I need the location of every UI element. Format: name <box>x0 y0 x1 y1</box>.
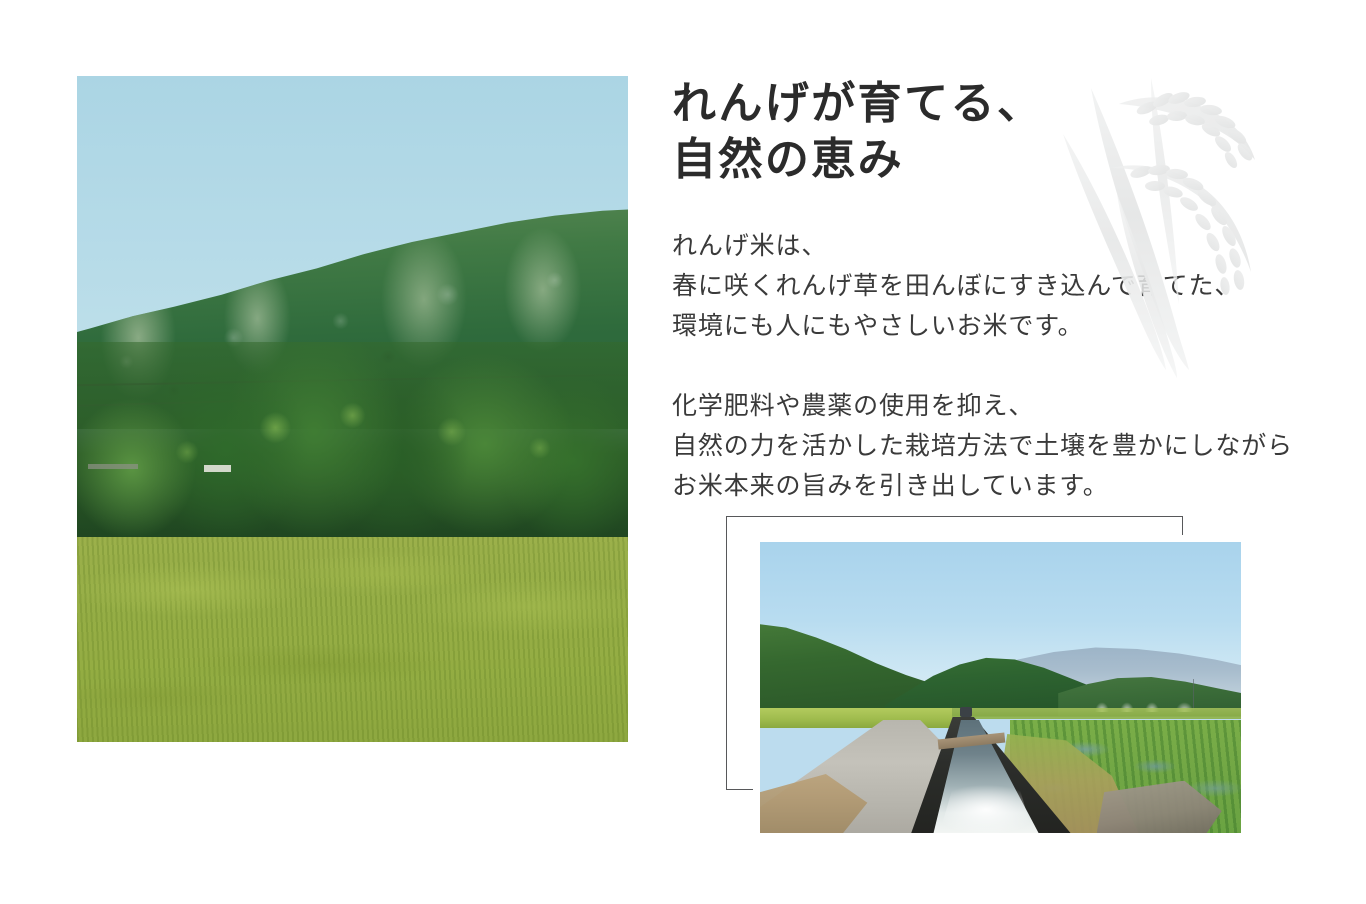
body-copy: れんげ米は、 春に咲くれんげ草を田んぼにすき込んで育てた、 環境にも人にもやさし… <box>672 227 1302 507</box>
intro-paragraph: れんげ米は、 春に咲くれんげ草を田んぼにすき込んで育てた、 環境にも人にもやさし… <box>672 227 1302 347</box>
photo-tree-highlights <box>77 342 628 545</box>
page-root: れんげが育てる、 自然の恵み れんげ米は、 春に咲くれんげ草を田んぼにすき込んで… <box>0 0 1366 904</box>
photo-grass-texture <box>77 537 628 742</box>
photo-right-inner <box>760 542 1241 833</box>
photo-house <box>204 465 232 472</box>
text-column: れんげが育てる、 自然の恵み れんげ米は、 春に咲くれんげ草を田んぼにすき込んで… <box>672 76 1302 507</box>
renge-field-photo <box>77 76 628 742</box>
page-title: れんげが育てる、 自然の恵み <box>672 76 1302 189</box>
photo-tree-line <box>77 342 628 545</box>
photo-right-vehicle <box>960 707 973 717</box>
photo-foreground-grass <box>77 537 628 742</box>
cultivation-paragraph: 化学肥料や農薬の使用を抑え、 自然の力を活かした栽培方法で土壌を豊かにしながら … <box>672 387 1302 507</box>
irrigation-channel-photo <box>753 535 1248 840</box>
photo-shed <box>88 464 138 468</box>
